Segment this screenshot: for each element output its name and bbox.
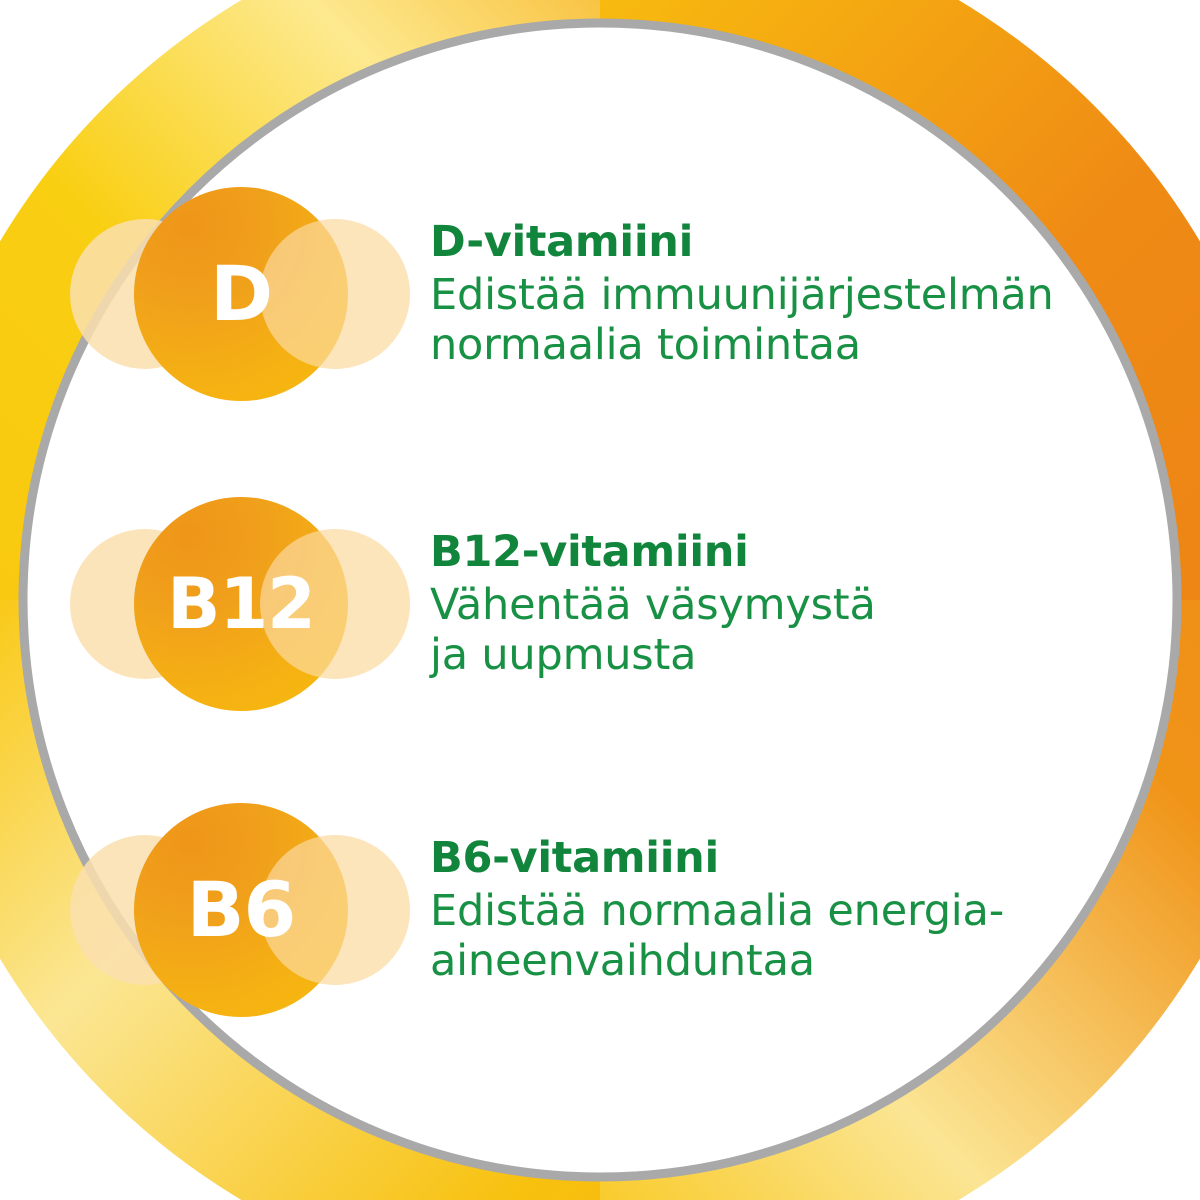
vitamin-description-b6: Edistää normaalia energia- aineenvaihdun… (430, 886, 1004, 987)
vitamin-description-d: Edistää immuunijärjestelmän normaalia to… (430, 270, 1054, 371)
vitamin-badge-b6: B6 (62, 790, 422, 1030)
benefit-text-d: D-vitamiini Edistää immuunijärjestelmän … (430, 218, 1054, 370)
badge-label-b12: B12 (134, 497, 348, 711)
benefit-row-b12: B12 B12-vitamiini Vähentää väsymystä ja … (0, 484, 1200, 724)
benefit-row-b6: B6 B6-vitamiini Edistää normaalia energi… (0, 790, 1200, 1030)
benefit-row-d: D D-vitamiini Edistää immuunijärjestelmä… (0, 174, 1200, 414)
vitamin-description-b12: Vähentää väsymystä ja uupmusta (430, 580, 876, 681)
badge-label-d: D (134, 187, 348, 401)
benefit-text-b12: B12-vitamiini Vähentää väsymystä ja uupm… (430, 528, 876, 680)
vitamin-benefits-graphic: D D-vitamiini Edistää immuunijärjestelmä… (0, 0, 1200, 1200)
vitamin-title-d: D-vitamiini (430, 218, 1054, 268)
vitamin-title-b12: B12-vitamiini (430, 528, 876, 578)
benefit-text-b6: B6-vitamiini Edistää normaalia energia- … (430, 834, 1004, 986)
vitamin-badge-b12: B12 (62, 484, 422, 724)
vitamin-badge-d: D (62, 174, 422, 414)
badge-label-b6: B6 (134, 803, 348, 1017)
vitamin-title-b6: B6-vitamiini (430, 834, 1004, 884)
